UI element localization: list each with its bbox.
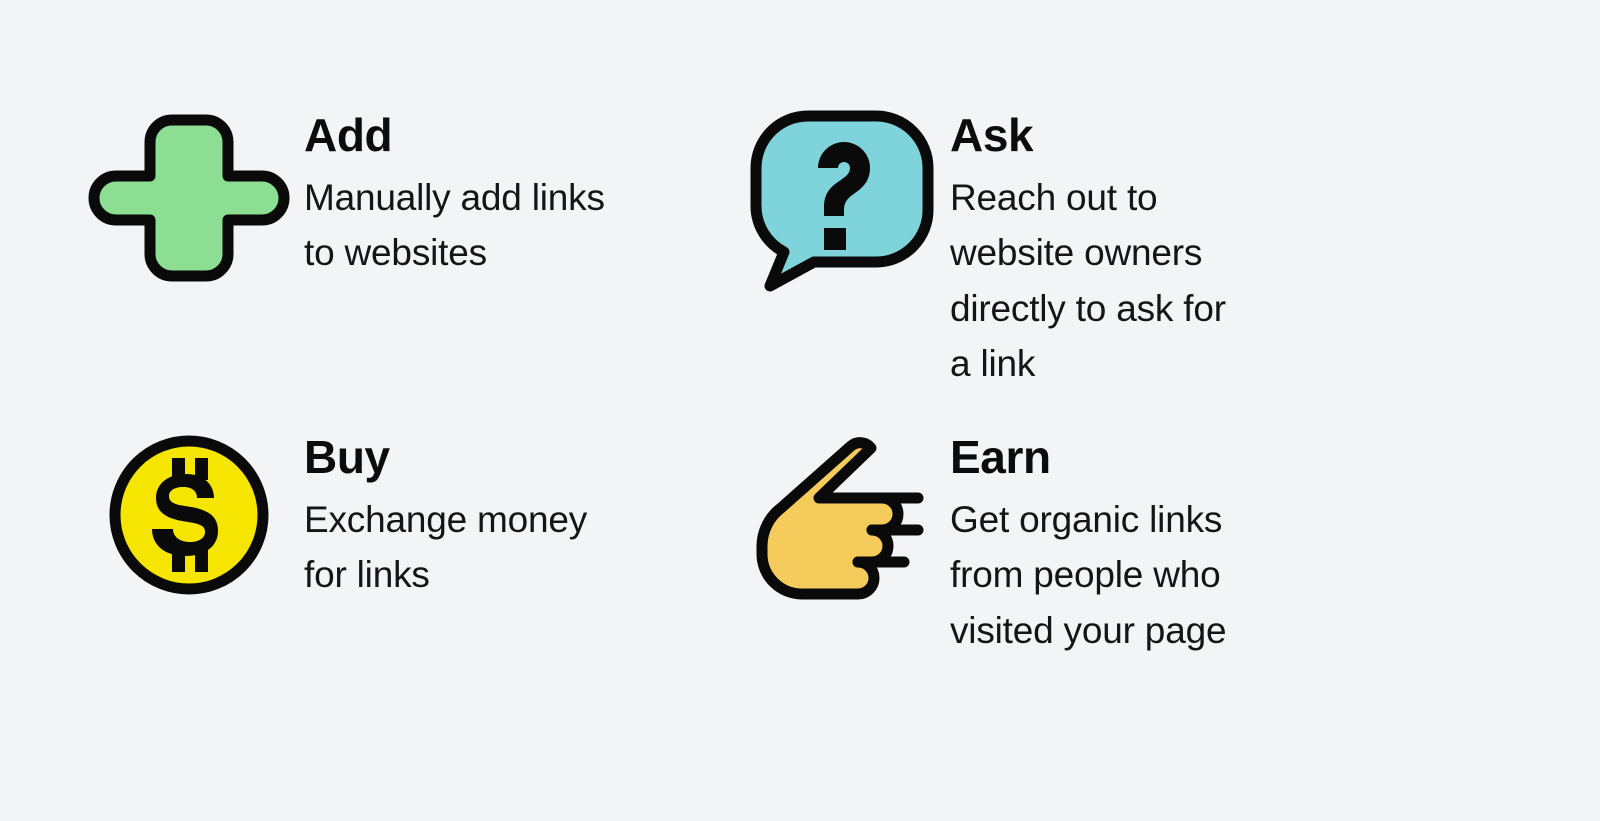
- method-description: Exchange money for links: [304, 492, 633, 603]
- dollar-coin-icon-container: [104, 430, 274, 600]
- method-card-add: Add Manually add links to websites: [104, 108, 704, 281]
- method-title: Buy: [304, 434, 704, 482]
- method-card-ask: Ask Reach out to website owners directly…: [748, 108, 1428, 392]
- method-title: Earn: [950, 434, 1428, 482]
- method-text-buy: Buy Exchange money for links: [274, 430, 704, 603]
- speech-bubble-question-icon: [748, 108, 928, 278]
- link-building-methods-diagram: Add Manually add links to websites Ask R…: [0, 0, 1600, 821]
- pointing-hand-icon-container: [748, 430, 928, 600]
- method-text-ask: Ask Reach out to website owners directly…: [928, 108, 1428, 392]
- method-card-buy: Buy Exchange money for links: [104, 430, 704, 603]
- method-title: Ask: [950, 112, 1428, 160]
- method-description: Manually add links to websites: [304, 170, 633, 281]
- method-title: Add: [304, 112, 704, 160]
- speech-bubble-question-icon-container: [748, 108, 928, 278]
- plus-icon-container: [104, 108, 274, 278]
- plus-icon: [104, 108, 274, 278]
- method-description: Reach out to website owners directly to …: [950, 170, 1248, 392]
- pointing-hand-icon: [748, 430, 928, 600]
- method-card-earn: Earn Get organic links from people who v…: [748, 430, 1428, 658]
- dollar-coin-icon: [104, 430, 274, 600]
- method-description: Get organic links from people who visite…: [950, 492, 1248, 659]
- method-text-earn: Earn Get organic links from people who v…: [928, 430, 1428, 658]
- method-text-add: Add Manually add links to websites: [274, 108, 704, 281]
